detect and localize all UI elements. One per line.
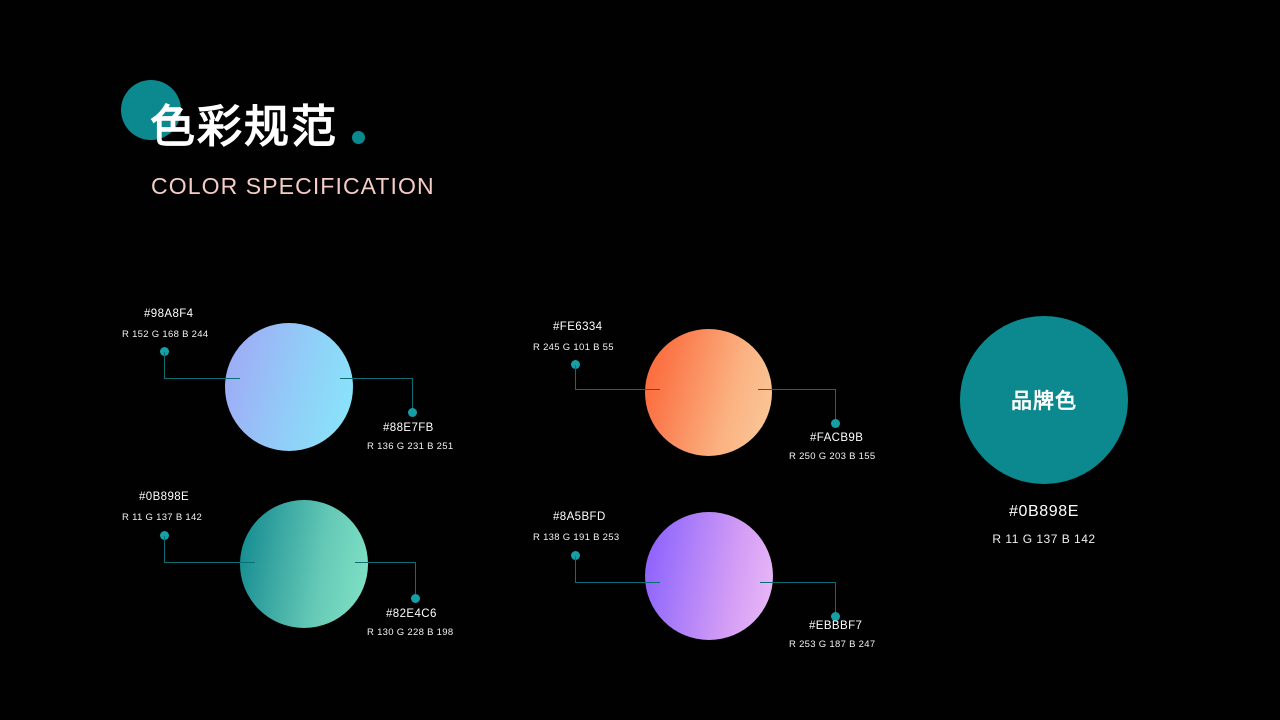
swatch-rgb-orange-end: R 250 G 203 B 155	[789, 450, 875, 463]
page-title: 色彩规范	[150, 101, 338, 153]
connector-dot-green-end	[411, 594, 420, 603]
connector-hline-blue-end	[340, 378, 413, 379]
title-row: 色彩规范	[150, 101, 365, 153]
connector-vline-blue-start	[164, 352, 165, 378]
connector-hline-orange-end	[758, 389, 836, 390]
swatch-rgb-green-end: R 130 G 228 B 198	[367, 626, 453, 639]
connector-vline-green-start	[164, 536, 165, 562]
swatch-orb-green	[240, 500, 368, 628]
connector-vline-blue-end	[412, 378, 413, 409]
connector-vline-purple-end	[835, 582, 836, 613]
swatch-rgb-green-start: R 11 G 137 B 142	[122, 511, 202, 524]
connector-vline-purple-start	[575, 556, 576, 582]
swatch-rgb-blue-start: R 152 G 168 B 244	[122, 328, 208, 341]
connector-hline-orange-start	[575, 389, 660, 390]
connector-vline-green-end	[415, 562, 416, 595]
swatch-hex-blue-end: #88E7FB	[383, 421, 434, 435]
swatch-rgb-purple-start: R 138 G 191 B 253	[533, 531, 619, 544]
connector-dot-orange-end	[831, 419, 840, 428]
connector-hline-green-end	[355, 562, 416, 563]
swatch-orb-purple	[645, 512, 773, 640]
connector-hline-purple-start	[575, 582, 660, 583]
page-subtitle: COLOR SPECIFICATION	[151, 172, 435, 200]
swatch-hex-purple-end: #EBBBF7	[809, 619, 862, 633]
brand-color-rgb: R 11 G 137 B 142	[955, 532, 1133, 546]
swatch-hex-orange-start: #FE6334	[553, 320, 602, 334]
connector-hline-blue-start	[164, 378, 240, 379]
brand-color-label: 品牌色	[1011, 385, 1077, 415]
connector-dot-blue-end	[408, 408, 417, 417]
brand-color-hex: #0B898E	[960, 503, 1128, 521]
swatch-hex-green-start: #0B898E	[139, 490, 189, 504]
connector-hline-purple-end	[760, 582, 836, 583]
swatch-rgb-orange-start: R 245 G 101 B 55	[533, 341, 614, 354]
slide-header: 色彩规范 COLOR SPECIFICATION	[0, 0, 1280, 230]
swatch-hex-blue-start: #98A8F4	[144, 307, 193, 321]
connector-vline-orange-start	[575, 365, 576, 389]
swatch-hex-green-end: #82E4C6	[386, 607, 437, 621]
swatch-orb-blue	[225, 323, 353, 451]
slide-root: 色彩规范 COLOR SPECIFICATION #98A8F4 R 152 G…	[0, 0, 1280, 720]
brand-color-orb: 品牌色	[960, 316, 1128, 484]
swatch-hex-purple-start: #8A5BFD	[553, 510, 606, 524]
connector-hline-green-start	[164, 562, 255, 563]
title-accent-dot-icon	[352, 131, 365, 144]
swatch-rgb-purple-end: R 253 G 187 B 247	[789, 638, 875, 651]
swatch-rgb-blue-end: R 136 G 231 B 251	[367, 440, 453, 453]
swatch-orb-orange	[645, 329, 772, 456]
swatch-hex-orange-end: #FACB9B	[810, 431, 863, 445]
connector-vline-orange-end	[835, 389, 836, 420]
